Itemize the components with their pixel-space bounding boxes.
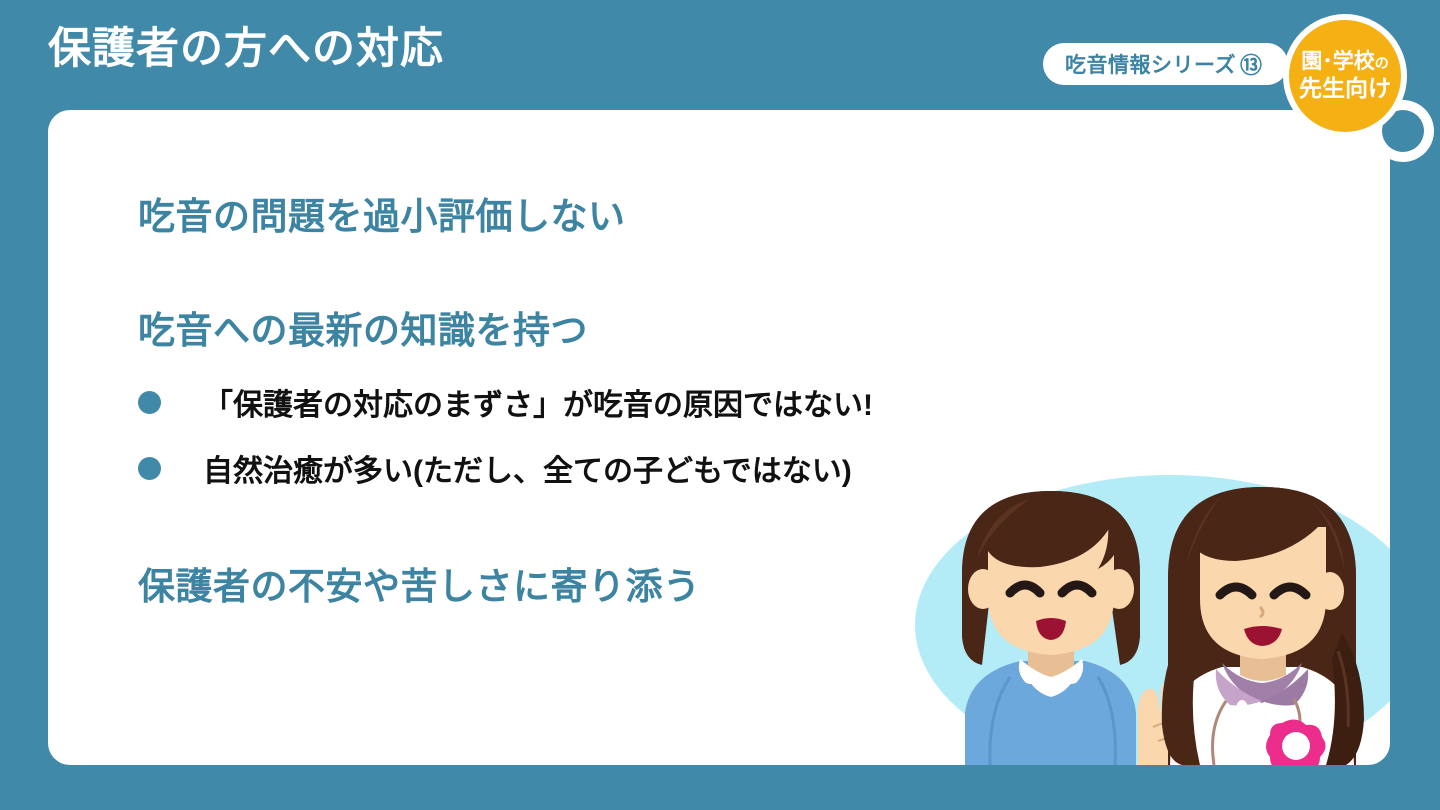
audience-badge-line2: 先生向け bbox=[1299, 75, 1391, 102]
page-title: 保護者の方への対応 bbox=[48, 26, 444, 73]
audience-badge-circle: 園･学校の 先生向け bbox=[1289, 20, 1401, 132]
heading-latest-knowledge: 吃音への最新の知識を持つ bbox=[138, 300, 588, 354]
series-badge: 吃音情報シリーズ ⑬ bbox=[1043, 43, 1288, 85]
list-item: 自然治癒が多い(ただし、全ての子どもではない) bbox=[138, 446, 852, 490]
bullet-dot-icon bbox=[138, 391, 161, 414]
audience-badge: 園･学校の 先生向け bbox=[1283, 14, 1417, 126]
audience-badge-line1-suffix: の bbox=[1375, 55, 1389, 71]
content-card: 吃音の問題を過小評価しない 吃音への最新の知識を持つ 「保護者の対応のまずさ」が… bbox=[48, 110, 1390, 765]
bullet-dot-icon bbox=[138, 457, 161, 480]
list-item: 「保護者の対応のまずさ」が吃音の原因ではない! bbox=[138, 380, 873, 424]
list-item-label: 「保護者の対応のまずさ」が吃音の原因ではない! bbox=[203, 380, 873, 424]
series-badge-number: ⑬ bbox=[1240, 48, 1263, 80]
two-women-talking-illustration bbox=[870, 465, 1390, 765]
heading-underestimate: 吃音の問題を過小評価しない bbox=[138, 186, 626, 240]
audience-badge-line1: 園･学校の bbox=[1301, 50, 1389, 75]
audience-badge-line1-main: 園･学校 bbox=[1301, 50, 1375, 73]
slide-canvas: 保護者の方への対応 吃音情報シリーズ ⑬ 園･学校の 先生向け 吃音の問題を過小… bbox=[0, 0, 1440, 810]
series-badge-label: 吃音情報シリーズ bbox=[1065, 49, 1236, 79]
list-item-label: 自然治癒が多い(ただし、全ての子どもではない) bbox=[203, 446, 852, 490]
heading-empathy: 保護者の不安や苦しさに寄り添う bbox=[138, 556, 701, 610]
